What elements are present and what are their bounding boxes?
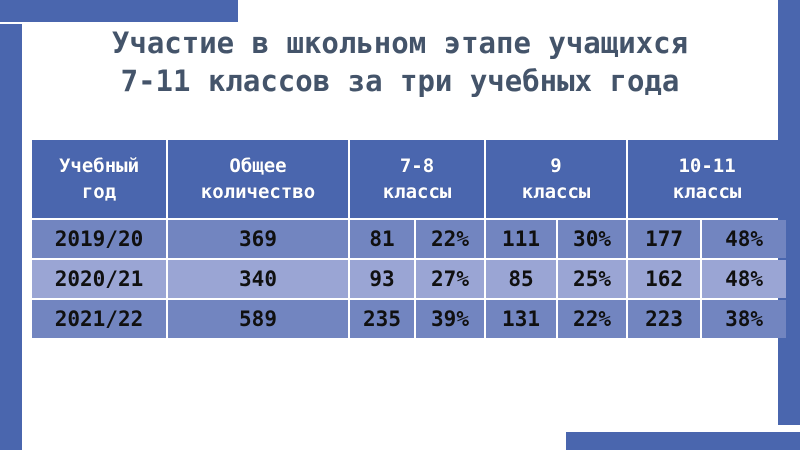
cell-grade-9-percent: 30% — [558, 220, 626, 258]
cell-academic-year: 2019/20 — [32, 220, 166, 258]
column-header-total-count: Общее количество — [168, 140, 348, 218]
table-header: Учебный год Общее количество 7-8 классы … — [32, 140, 786, 218]
statistics-table-container: Учебный год Общее количество 7-8 классы … — [30, 138, 770, 340]
table-header-row: Учебный год Общее количество 7-8 классы … — [32, 140, 786, 218]
column-header-grades-7-8-line-1: 7-8 — [350, 153, 484, 179]
cell-grade-9-count: 111 — [486, 220, 556, 258]
cell-grade-9-count: 131 — [486, 300, 556, 338]
cell-grades-7-8-percent: 39% — [416, 300, 484, 338]
column-header-grades-7-8: 7-8 классы — [350, 140, 484, 218]
table-row: 2020/21 340 93 27% 85 25% 162 48% — [32, 260, 786, 298]
cell-grades-10-11-percent: 38% — [702, 300, 786, 338]
cell-grades-7-8-percent: 22% — [416, 220, 484, 258]
column-header-total-count-line-1: Общее — [168, 153, 348, 179]
column-header-academic-year: Учебный год — [32, 140, 166, 218]
cell-grades-10-11-count: 177 — [628, 220, 700, 258]
slide-title: Участие в школьном этапе учащихся 7-11 к… — [28, 24, 772, 100]
column-header-grade-9: 9 классы — [486, 140, 626, 218]
cell-grades-10-11-count: 162 — [628, 260, 700, 298]
cell-grade-9-percent: 25% — [558, 260, 626, 298]
column-header-grades-10-11: 10-11 классы — [628, 140, 786, 218]
cell-grades-7-8-count: 93 — [350, 260, 414, 298]
cell-grades-7-8-count: 235 — [350, 300, 414, 338]
cell-total-count: 340 — [168, 260, 348, 298]
cell-academic-year: 2020/21 — [32, 260, 166, 298]
statistics-table: Учебный год Общее количество 7-8 классы … — [30, 138, 788, 340]
cell-grades-7-8-percent: 27% — [416, 260, 484, 298]
cell-grade-9-count: 85 — [486, 260, 556, 298]
column-header-academic-year-line-2: год — [32, 179, 166, 205]
column-header-grades-10-11-line-2: классы — [628, 179, 786, 205]
table-body: 2019/20 369 81 22% 111 30% 177 48% 2020/… — [32, 220, 786, 338]
column-header-grade-9-line-1: 9 — [486, 153, 626, 179]
column-header-total-count-line-2: количество — [168, 179, 348, 205]
table-row: 2021/22 589 235 39% 131 22% 223 38% — [32, 300, 786, 338]
cell-total-count: 369 — [168, 220, 348, 258]
cell-grades-10-11-count: 223 — [628, 300, 700, 338]
decorative-bar-top — [0, 0, 238, 22]
slide-title-line-2: 7-11 классов за три учебных года — [28, 62, 772, 100]
cell-grades-7-8-count: 81 — [350, 220, 414, 258]
slide-title-line-1: Участие в школьном этапе учащихся — [28, 24, 772, 62]
column-header-grade-9-line-2: классы — [486, 179, 626, 205]
column-header-grades-10-11-line-1: 10-11 — [628, 153, 786, 179]
cell-grades-10-11-percent: 48% — [702, 220, 786, 258]
decorative-bar-left — [0, 24, 22, 450]
table-row: 2019/20 369 81 22% 111 30% 177 48% — [32, 220, 786, 258]
column-header-academic-year-line-1: Учебный — [32, 153, 166, 179]
decorative-bar-bottom — [566, 432, 800, 450]
cell-grade-9-percent: 22% — [558, 300, 626, 338]
cell-academic-year: 2021/22 — [32, 300, 166, 338]
cell-grades-10-11-percent: 48% — [702, 260, 786, 298]
column-header-grades-7-8-line-2: классы — [350, 179, 484, 205]
cell-total-count: 589 — [168, 300, 348, 338]
